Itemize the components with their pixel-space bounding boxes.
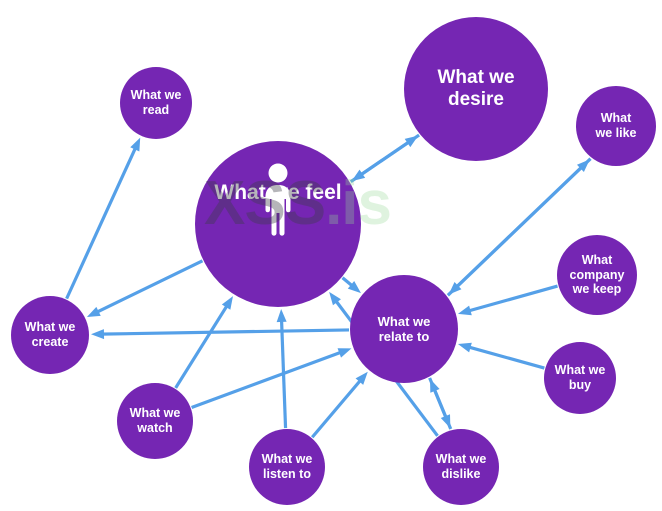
node-desire[interactable]: What we desire (404, 17, 548, 161)
edge-relateto-to-create (91, 329, 349, 339)
edge-desire-to-feel (352, 135, 419, 181)
diagram-canvas: What we feelWhat we desireWhat we relate… (0, 0, 662, 511)
node-label-watch: What we watch (126, 406, 185, 436)
node-label-read: What we read (127, 88, 186, 118)
edge-feel-to-relateto (343, 278, 361, 293)
node-feel[interactable]: What we feel (195, 141, 361, 307)
edge-create-to-read (67, 138, 141, 299)
node-relateto[interactable]: What we relate to (350, 275, 458, 383)
node-dislike[interactable]: What we dislike (423, 429, 499, 505)
edge-watch-to-relateto (192, 348, 352, 407)
node-like[interactable]: What we like (576, 86, 656, 166)
node-create[interactable]: What we create (11, 296, 89, 374)
edge-listen-to-relateto (312, 372, 368, 438)
node-label-buy: What we buy (551, 363, 610, 393)
edge-company-to-relateto (458, 286, 558, 315)
node-watch[interactable]: What we watch (117, 383, 193, 459)
node-listen[interactable]: What we listen to (249, 429, 325, 505)
node-label-relateto: What we relate to (374, 314, 435, 345)
edge-listen-to-feel (277, 309, 287, 428)
node-company[interactable]: What company we keep (557, 235, 637, 315)
edge-relateto-to-dislike (430, 378, 451, 428)
node-buy[interactable]: What we buy (544, 342, 616, 414)
node-label-create: What we create (21, 320, 80, 350)
node-label-desire: What we desire (433, 67, 518, 112)
edge-watch-to-feel (176, 296, 233, 388)
node-read[interactable]: What we read (120, 67, 192, 139)
node-label-like: What we like (592, 111, 641, 141)
node-label-dislike: What we dislike (432, 452, 491, 482)
edge-buy-to-relateto (458, 343, 544, 368)
edge-feel-to-create (87, 261, 203, 317)
node-label-company: What company we keep (566, 253, 629, 297)
node-label-listen: What we listen to (258, 452, 317, 482)
person-icon (261, 163, 295, 244)
